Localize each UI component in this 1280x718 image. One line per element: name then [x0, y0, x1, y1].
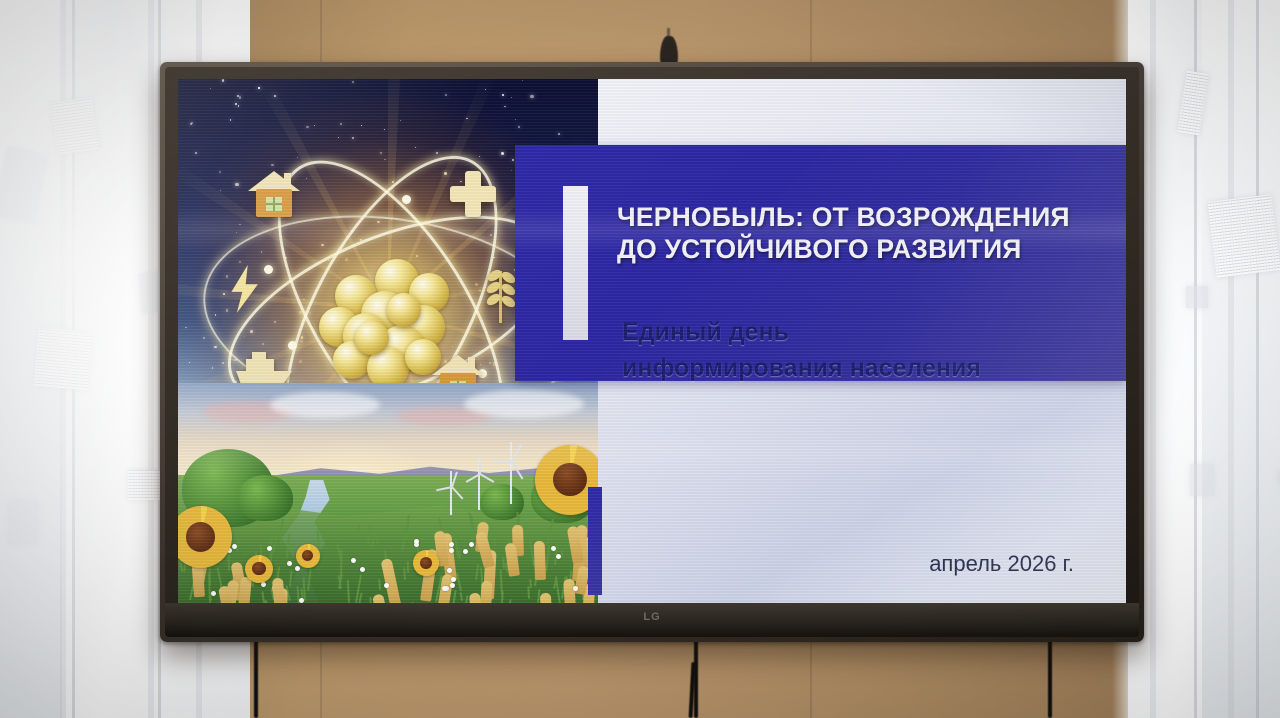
turbine-mast [450, 471, 452, 515]
power-cable-right [1048, 640, 1052, 718]
cloud [270, 392, 380, 418]
screenshot-root: ЧЕРНОБЫЛЬ: ОТ ВОЗРОЖДЕНИЯ ДО УСТОЙЧИВОГО… [0, 0, 1280, 718]
wheat-stalk [480, 580, 493, 603]
right-curtain [1128, 0, 1280, 718]
turbine-blade [479, 473, 494, 483]
roof [248, 171, 300, 191]
turbine-blade [479, 458, 481, 474]
sunflower-small [245, 555, 273, 583]
ship-hull [236, 371, 292, 383]
sunflower-small [296, 544, 320, 568]
curtain-patch [1186, 286, 1208, 308]
slide-subtitle: Единый день информирования населения [622, 315, 1086, 386]
wind-turbine [464, 458, 494, 510]
lg-brand-logo: LG [165, 611, 1139, 623]
wheat-stalk [533, 541, 545, 580]
sunflower-large-left [178, 506, 232, 568]
orbit-node [402, 195, 411, 204]
cloud [464, 390, 584, 418]
banner-accent-bar [563, 186, 588, 340]
landscape-scene [178, 383, 598, 603]
grass-blade [340, 549, 343, 578]
turbine-blade [511, 462, 523, 480]
wind-turbine [493, 442, 529, 504]
turbine-mast [510, 442, 512, 504]
roof [432, 355, 484, 375]
turbine-blade [511, 444, 522, 463]
television: ЧЕРНОБЫЛЬ: ОТ ВОЗРОЖДЕНИЯ ДО УСТОЙЧИВОГО… [160, 62, 1144, 642]
curtain-stripe [1256, 0, 1259, 718]
wildflower [573, 586, 578, 591]
wildflower [463, 549, 468, 554]
curtain-stripe [1228, 0, 1234, 718]
wildflower [451, 577, 456, 582]
wildflower [414, 539, 419, 544]
ship-deck [246, 359, 274, 371]
slide-date: апрель 2026 г. [929, 551, 1074, 577]
turbine-blade [451, 471, 458, 487]
nucleon [387, 293, 421, 327]
wildflower [232, 544, 237, 549]
slide-subtitle-line-2: информирования населения [622, 351, 1086, 387]
power-cable-center [694, 640, 698, 718]
wildflower [469, 542, 474, 547]
tv-screen[interactable]: ЧЕРНОБЫЛЬ: ОТ ВОЗРОЖДЕНИЯ ДО УСТОЙЧИВОГО… [178, 79, 1126, 603]
slide-text-panel: Единый день информирования населения апр… [598, 79, 1126, 603]
wildflower [551, 546, 556, 551]
house-icon [248, 171, 300, 217]
curtain-patch [1190, 464, 1214, 496]
curtain-patch [1208, 194, 1280, 277]
tree [237, 475, 293, 521]
curtain-stripe [1150, 0, 1156, 718]
orbit-node [264, 265, 273, 274]
wildflower [449, 542, 454, 547]
grass-blade [493, 536, 496, 546]
sunflower-center [252, 562, 265, 575]
window [266, 197, 282, 211]
grass-blade [536, 530, 538, 539]
sunflower-small [413, 550, 439, 576]
wildflower [449, 548, 454, 553]
power-cable-left [254, 640, 258, 718]
sunflower-center [553, 463, 587, 497]
wind-turbine [438, 471, 464, 515]
grass-blade [458, 550, 461, 559]
wildflower [447, 568, 452, 573]
tv-chin: LG [165, 603, 1139, 637]
right-window-pane [1202, 0, 1280, 718]
grass-blade [358, 524, 360, 532]
nucleon [355, 321, 389, 355]
presentation-slide: ЧЕРНОБЫЛЬ: ОТ ВОЗРОЖДЕНИЯ ДО УСТОЙЧИВОГО… [178, 79, 1126, 603]
slide-accent-bar [588, 487, 602, 595]
wildflower [287, 561, 292, 566]
wildflower [351, 558, 356, 563]
orbit-node [288, 341, 297, 350]
grass-blade [561, 550, 563, 558]
grass-blade [403, 567, 406, 580]
medical-cross-icon [450, 171, 496, 217]
turbine-blade [452, 486, 464, 499]
slide-subtitle-line-1: Единый день [622, 315, 1086, 351]
